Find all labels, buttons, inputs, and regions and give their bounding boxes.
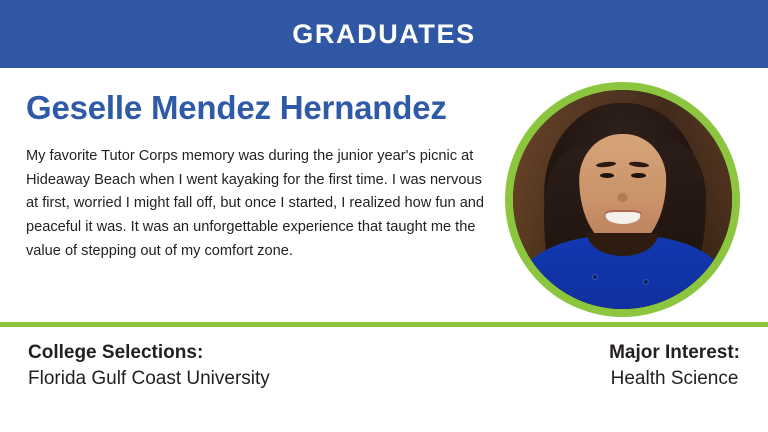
college-selections-value: Florida Gulf Coast University xyxy=(28,366,270,392)
shirt-button-upper xyxy=(593,275,597,279)
college-selections-block: College Selections: Florida Gulf Coast U… xyxy=(28,340,270,391)
header-band: GRADUATES xyxy=(0,0,768,68)
footer-area: College Selections: Florida Gulf Coast U… xyxy=(0,327,768,432)
main-content: Geselle Mendez Hernandez My favorite Tut… xyxy=(0,68,768,322)
major-interest-block: Major Interest: Health Science xyxy=(609,340,740,391)
shirt-button-lower xyxy=(644,280,648,284)
major-interest-label: Major Interest: xyxy=(609,340,740,366)
graduate-name: Geselle Mendez Hernandez xyxy=(26,90,496,127)
graduate-spotlight-slide: GRADUATES Geselle Mendez Hernandez My fa… xyxy=(0,0,768,432)
avatar xyxy=(513,90,732,309)
major-interest-value: Health Science xyxy=(609,366,740,392)
graduate-text-column: Geselle Mendez Hernandez My favorite Tut… xyxy=(26,68,496,263)
college-selections-label: College Selections: xyxy=(28,340,270,366)
graduate-photo-ring xyxy=(505,82,740,317)
page-title: GRADUATES xyxy=(292,21,475,48)
graduate-quote: My favorite Tutor Corps memory was durin… xyxy=(26,145,488,263)
nose-shape xyxy=(617,193,628,202)
